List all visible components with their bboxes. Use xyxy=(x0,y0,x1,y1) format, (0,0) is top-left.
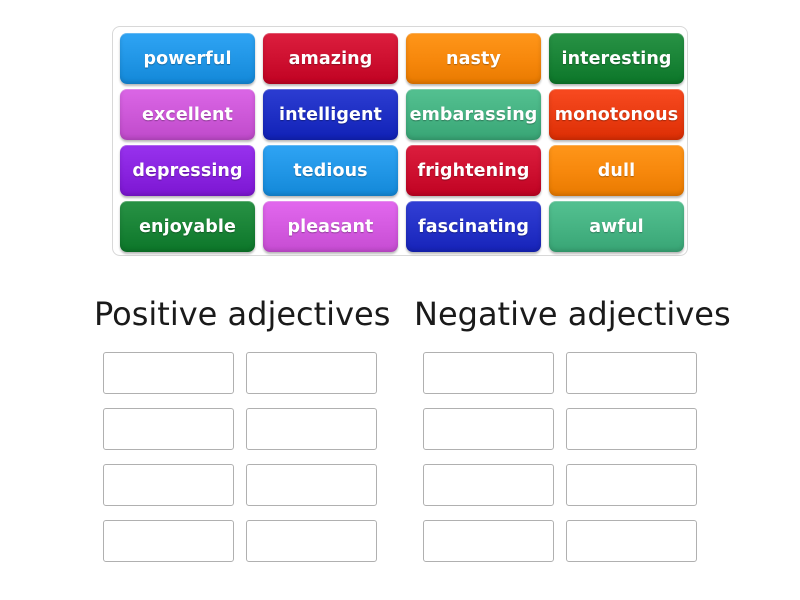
word-tile[interactable]: depressing xyxy=(120,145,255,196)
tile-row: powerful amazing nasty interesting xyxy=(120,33,680,84)
dropzone-slot[interactable] xyxy=(246,352,377,394)
word-tile[interactable]: intelligent xyxy=(263,89,398,140)
tile-row: excellent intelligent embarassing monoto… xyxy=(120,89,680,140)
dropzone-row xyxy=(423,352,697,394)
word-tile[interactable]: fascinating xyxy=(406,201,541,252)
word-tile[interactable]: powerful xyxy=(120,33,255,84)
dropzone-row xyxy=(103,520,377,562)
word-tile[interactable]: embarassing xyxy=(406,89,541,140)
dropzone-slot[interactable] xyxy=(566,520,697,562)
dropzone-row xyxy=(103,352,377,394)
dropzone-row xyxy=(103,464,377,506)
category-heading-negative: Negative adjectives xyxy=(414,294,731,334)
word-tile[interactable]: pleasant xyxy=(263,201,398,252)
word-tile[interactable]: interesting xyxy=(549,33,684,84)
word-tile[interactable]: nasty xyxy=(406,33,541,84)
dropzone-row xyxy=(103,408,377,450)
word-tile[interactable]: enjoyable xyxy=(120,201,255,252)
word-tile[interactable]: dull xyxy=(549,145,684,196)
category-heading-positive: Positive adjectives xyxy=(94,294,390,334)
dropzone-slot[interactable] xyxy=(103,352,234,394)
dropzone-slot[interactable] xyxy=(566,408,697,450)
tile-row: enjoyable pleasant fascinating awful xyxy=(120,201,680,252)
dropzone-slot[interactable] xyxy=(103,520,234,562)
word-tile[interactable]: monotonous xyxy=(549,89,684,140)
dropzone-slot[interactable] xyxy=(246,408,377,450)
tile-row: depressing tedious frightening dull xyxy=(120,145,680,196)
dropzone-slot[interactable] xyxy=(423,352,554,394)
dropzone-row xyxy=(423,464,697,506)
dropzone-slot[interactable] xyxy=(246,464,377,506)
dropzone-slot[interactable] xyxy=(423,408,554,450)
word-tile[interactable]: awful xyxy=(549,201,684,252)
dropzone-slot[interactable] xyxy=(246,520,377,562)
dropzone-row xyxy=(423,408,697,450)
dropzone-slot[interactable] xyxy=(103,464,234,506)
dropzone-slot[interactable] xyxy=(103,408,234,450)
word-tile[interactable]: tedious xyxy=(263,145,398,196)
word-tile[interactable]: amazing xyxy=(263,33,398,84)
dropzone-row xyxy=(423,520,697,562)
dropzone-slot[interactable] xyxy=(423,464,554,506)
word-tile-bank: powerful amazing nasty interesting excel… xyxy=(112,26,688,256)
word-tile[interactable]: frightening xyxy=(406,145,541,196)
dropzone-group-positive xyxy=(103,352,377,562)
dropzone-slot[interactable] xyxy=(423,520,554,562)
dropzone-slot[interactable] xyxy=(566,352,697,394)
word-tile[interactable]: excellent xyxy=(120,89,255,140)
dropzone-group-negative xyxy=(423,352,697,562)
dropzone-slot[interactable] xyxy=(566,464,697,506)
